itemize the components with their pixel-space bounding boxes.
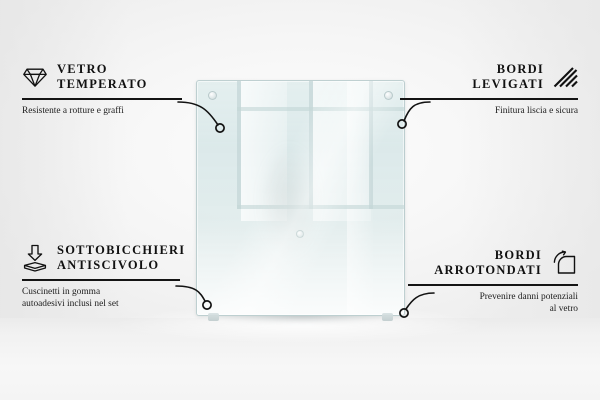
callout-heading: VETRO TEMPERATO bbox=[22, 62, 192, 92]
callout-rule bbox=[408, 284, 578, 286]
support-foot-left bbox=[208, 313, 219, 321]
callout-description: Prevenire danni potenziali al vetro bbox=[398, 291, 578, 316]
callout-bordi-levigati: BORDI LEVIGATI Finitura liscia e sicura bbox=[398, 62, 578, 117]
callout-title: BORDI LEVIGATI bbox=[472, 62, 544, 92]
callout-title: SOTTOBICCHIERI ANTISCIVOLO bbox=[57, 243, 185, 273]
support-foot-right bbox=[382, 313, 393, 321]
mounting-pad-top-right bbox=[384, 91, 393, 100]
mounting-pad-top-left bbox=[208, 91, 217, 100]
glass-panel bbox=[196, 80, 405, 316]
callout-bordi-arrotondati: BORDI ARROTONDATI Prevenire danni potenz… bbox=[398, 248, 578, 315]
callout-description: Finitura liscia e sicura bbox=[398, 105, 578, 117]
mounting-pad-center bbox=[296, 230, 304, 238]
rounded-corner-icon bbox=[551, 250, 578, 276]
callout-vetro-temperato: VETRO TEMPERATO Resistente a rotture e g… bbox=[22, 62, 192, 117]
product-image bbox=[196, 80, 405, 316]
press-pad-icon bbox=[22, 244, 48, 272]
callout-sottobicchieri-antiscivolo: SOTTOBICCHIERI ANTISCIVOLO Cuscinetti in… bbox=[22, 243, 204, 310]
callout-rule bbox=[22, 98, 182, 100]
callout-description: Cuscinetti in gomma autoadesivi inclusi … bbox=[22, 286, 204, 311]
callout-rule bbox=[400, 98, 578, 100]
callout-rule bbox=[22, 279, 180, 281]
callout-heading: SOTTOBICCHIERI ANTISCIVOLO bbox=[22, 243, 204, 273]
diamond-icon bbox=[22, 67, 48, 88]
diagonal-stripes-icon bbox=[553, 66, 578, 88]
callout-heading: BORDI ARROTONDATI bbox=[398, 248, 578, 278]
callout-description: Resistente a rotture e graffi bbox=[22, 105, 192, 117]
callout-title: VETRO TEMPERATO bbox=[57, 62, 148, 92]
callout-heading: BORDI LEVIGATI bbox=[398, 62, 578, 92]
infographic-scene: VETRO TEMPERATO Resistente a rotture e g… bbox=[0, 0, 600, 400]
callout-title: BORDI ARROTONDATI bbox=[434, 248, 542, 278]
